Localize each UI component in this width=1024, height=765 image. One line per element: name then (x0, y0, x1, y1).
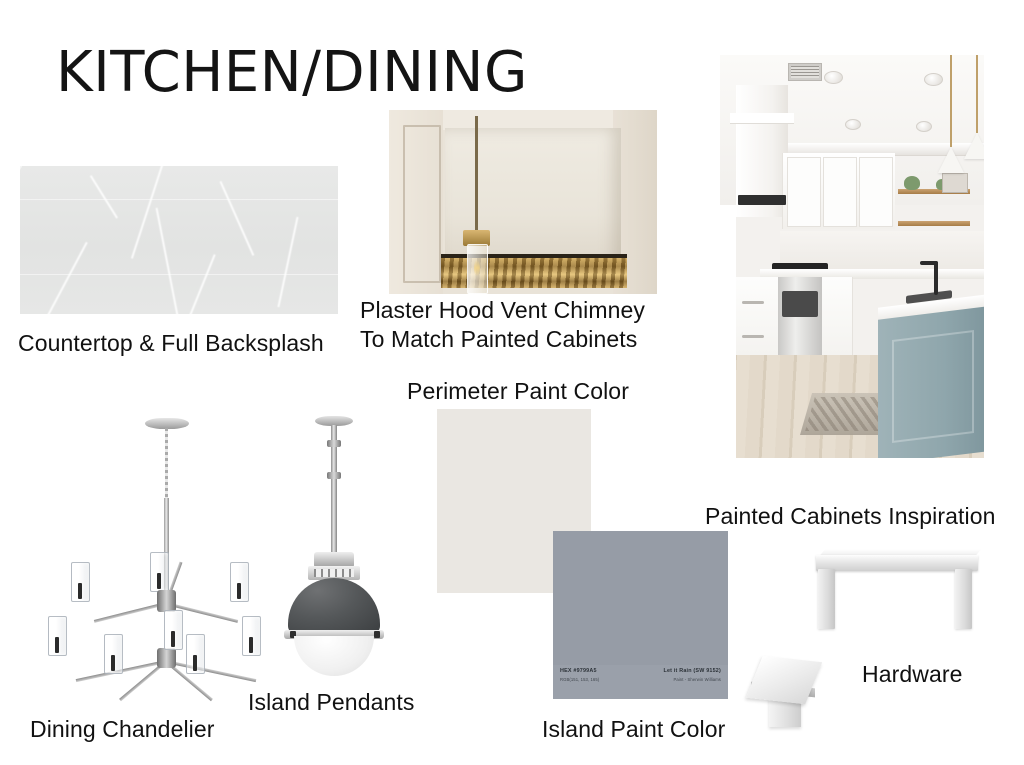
paint-rgb-label: RGB(151, 153, 165) (560, 677, 599, 682)
chandelier-shade (186, 634, 205, 674)
pendant-shade (964, 133, 984, 159)
paint-brand-label: Paint - Sherwin Williams (673, 677, 721, 682)
shelf-plant (904, 176, 920, 190)
pendant-glass-globe (294, 636, 374, 676)
painted-island (878, 306, 984, 458)
quartz-base (20, 166, 338, 314)
chandelier-shade (104, 634, 123, 674)
island-pendant-image (270, 412, 398, 674)
caption-island-paint: Island Paint Color (542, 716, 725, 742)
pendant-cord (976, 55, 978, 133)
open-wood-shelf (898, 221, 970, 226)
paint-name-label: Let it Rain (SW 9152) (663, 668, 721, 674)
chandelier-chain (165, 428, 168, 498)
caption-hardware: Hardware (862, 661, 963, 687)
chandelier-shade (230, 562, 249, 602)
faucet (934, 261, 938, 295)
recessed-light (845, 119, 861, 130)
paint-hex-label: HEX #9799A5 (560, 668, 597, 674)
pendant-knuckle (327, 440, 341, 447)
caption-countertop: Countertop & Full Backsplash (18, 330, 324, 356)
pendant-bolt (374, 631, 380, 638)
bar-pull-bar (816, 555, 978, 571)
chandelier-shade (71, 562, 90, 602)
recessed-light (824, 71, 843, 84)
chandelier-shade (164, 610, 183, 650)
shelf-artwork (942, 173, 968, 193)
paint-chip-color (553, 531, 728, 665)
ceiling-vent (788, 63, 822, 81)
recessed-light (916, 121, 932, 132)
recessed-light (924, 73, 943, 86)
page-title: KITCHEN/DINING (56, 40, 528, 105)
cabinet-pull (742, 335, 764, 338)
chandelier-shade (242, 616, 261, 656)
chandelier-lower-hub (157, 648, 176, 668)
cabinet-door (859, 157, 893, 227)
pendant-dome (288, 578, 380, 634)
plaster-hood-photo (389, 110, 657, 294)
caption-perimeter-paint: Perimeter Paint Color (407, 378, 629, 404)
chandelier-arm (94, 602, 167, 623)
pendant-shade (938, 147, 964, 173)
mood-board: KITCHEN/DINING Countertop & Full Backspl… (0, 0, 1024, 765)
paint-chip-label-strip: HEX #9799A5 RGB(151, 153, 165) Let it Ra… (553, 665, 728, 699)
cabinet-door (787, 157, 821, 227)
kitchen-inspiration-photo (720, 55, 984, 458)
caption-hood-line1: Plaster Hood Vent Chimney (360, 297, 645, 323)
cabinet-bar-pull-image (812, 545, 982, 641)
island-paint-chip: HEX #9799A5 RGB(151, 153, 165) Let it Ra… (553, 531, 728, 699)
wall-edge (720, 205, 736, 458)
cabinet-door (823, 157, 857, 227)
cabinet-square-knob-image (745, 655, 837, 735)
chandelier-shade (150, 552, 169, 592)
pendant-rod (475, 116, 478, 234)
pendant-knuckle (327, 472, 341, 479)
wall-left-cabinet (389, 110, 443, 294)
caption-cabinets-inspiration: Painted Cabinets Inspiration (705, 503, 995, 529)
pendant-cord (950, 55, 952, 147)
countertop-quartz-swatch (20, 166, 338, 314)
upper-cabinets (782, 153, 895, 229)
chandelier-shade (48, 616, 67, 656)
caption-dining-chandelier: Dining Chandelier (30, 716, 215, 742)
cabinet-pull (742, 301, 764, 304)
bar-pull-leg (955, 569, 972, 629)
caption-hood-line2: To Match Painted Cabinets (360, 326, 637, 352)
bar-pull-leg (818, 569, 835, 629)
chandelier-upper-hub (157, 590, 176, 612)
dining-chandelier-image (40, 412, 266, 684)
caption-island-pendants: Island Pendants (248, 689, 414, 715)
quartz-vein (20, 199, 338, 200)
quartz-vein (20, 274, 338, 275)
range-hood-insert (738, 195, 786, 205)
pendant-filament (474, 260, 480, 276)
